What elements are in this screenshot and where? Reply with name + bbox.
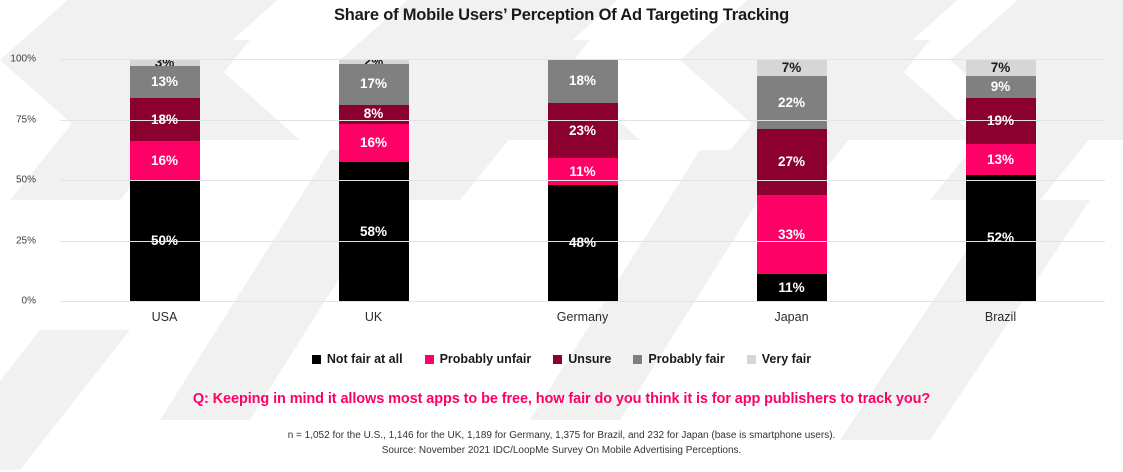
bar-segment[interactable]: 3% (130, 59, 200, 66)
bar-segment[interactable]: 18% (548, 59, 618, 103)
x-axis-label-usa: USA (60, 310, 269, 324)
gridline (60, 301, 1105, 302)
legend-label: Unsure (568, 352, 611, 366)
legend-item[interactable]: Probably fair (633, 352, 724, 366)
bar-segment[interactable]: 9% (966, 76, 1036, 98)
x-axis-label-uk: UK (269, 310, 478, 324)
bar-segment[interactable]: 22% (757, 76, 827, 129)
chart-legend: Not fair at allProbably unfairUnsureProb… (0, 352, 1123, 366)
y-axis-tick-label: 25% (0, 235, 36, 246)
footnotes: n = 1,052 for the U.S., 1,146 for the UK… (0, 428, 1123, 458)
bar-segment[interactable]: 7% (966, 59, 1036, 76)
x-axis-label-japan: Japan (687, 310, 896, 324)
bar-segment[interactable]: 52% (966, 175, 1036, 301)
legend-swatch-icon (312, 355, 321, 364)
legend-label: Not fair at all (327, 352, 403, 366)
page-title: Share of Mobile Users’ Perception Of Ad … (0, 6, 1123, 25)
bar-segment[interactable]: 13% (130, 66, 200, 97)
gridline (60, 180, 1105, 181)
x-axis-label-germany: Germany (478, 310, 687, 324)
y-axis-tick-label: 50% (0, 175, 36, 186)
legend-label: Very fair (762, 352, 811, 366)
survey-question: Q: Keeping in mind it allows most apps t… (0, 391, 1123, 407)
y-axis-tick-label: 100% (0, 54, 36, 65)
legend-swatch-icon (633, 355, 642, 364)
y-axis-tick-label: 0% (0, 296, 36, 307)
legend-item[interactable]: Probably unfair (425, 352, 532, 366)
footnote-sample-size: n = 1,052 for the U.S., 1,146 for the UK… (0, 428, 1123, 443)
x-axis-label-brazil: Brazil (896, 310, 1105, 324)
bar-segment[interactable]: 11% (757, 274, 827, 301)
legend-item[interactable]: Unsure (553, 352, 611, 366)
gridline (60, 241, 1105, 242)
x-axis-labels: USAUKGermanyJapanBrazil (60, 310, 1105, 324)
bar-segment[interactable]: 16% (130, 141, 200, 180)
legend-label: Probably fair (648, 352, 724, 366)
bar-segment[interactable]: 48% (548, 185, 618, 301)
legend-item[interactable]: Not fair at all (312, 352, 403, 366)
legend-swatch-icon (553, 355, 562, 364)
legend-swatch-icon (425, 355, 434, 364)
bar-segment[interactable]: 33% (757, 195, 827, 275)
legend-item[interactable]: Very fair (747, 352, 811, 366)
y-axis-tick-label: 75% (0, 114, 36, 125)
footnote-source: Source: November 2021 IDC/LoopMe Survey … (0, 443, 1123, 458)
bar-segment[interactable]: 8% (339, 105, 409, 124)
chart-plot-area: 3%13%18%16%50%2%17%8%16%58%18%23%11%48%7… (60, 59, 1105, 301)
bar-segment[interactable]: 7% (757, 59, 827, 76)
gridline (60, 59, 1105, 60)
bar-segment[interactable]: 13% (966, 144, 1036, 175)
bar-segment[interactable]: 19% (966, 98, 1036, 144)
bar-segment[interactable]: 16% (339, 124, 409, 162)
gridline (60, 120, 1105, 121)
bar-segment[interactable]: 58% (339, 162, 409, 301)
bar-segment[interactable]: 23% (548, 103, 618, 159)
bar-segment[interactable]: 17% (339, 64, 409, 105)
legend-label: Probably unfair (440, 352, 532, 366)
legend-swatch-icon (747, 355, 756, 364)
bar-segment[interactable]: 27% (757, 129, 827, 194)
chart-page: Share of Mobile Users’ Perception Of Ad … (0, 0, 1123, 472)
